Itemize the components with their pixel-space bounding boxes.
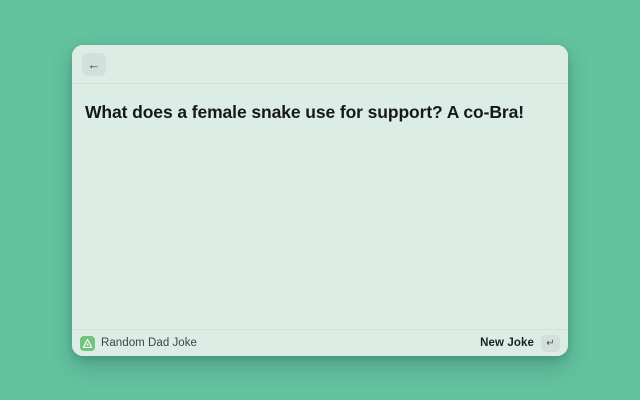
footer-actions: New Joke ↵ bbox=[480, 335, 560, 352]
window-footer: Random Dad Joke New Joke ↵ bbox=[72, 329, 568, 356]
new-joke-label[interactable]: New Joke bbox=[480, 337, 534, 349]
return-key-button[interactable]: ↵ bbox=[541, 335, 560, 352]
window-header: ← bbox=[72, 45, 568, 84]
back-button[interactable]: ← bbox=[82, 53, 106, 76]
joke-text: What does a female snake use for support… bbox=[85, 101, 552, 124]
random-dad-joke-app-icon bbox=[80, 336, 95, 351]
joke-window: ← What does a female snake use for suppo… bbox=[72, 45, 568, 356]
joke-content-area: What does a female snake use for support… bbox=[72, 84, 568, 329]
footer-app-info: Random Dad Joke bbox=[80, 336, 197, 351]
app-name-label: Random Dad Joke bbox=[101, 337, 197, 349]
